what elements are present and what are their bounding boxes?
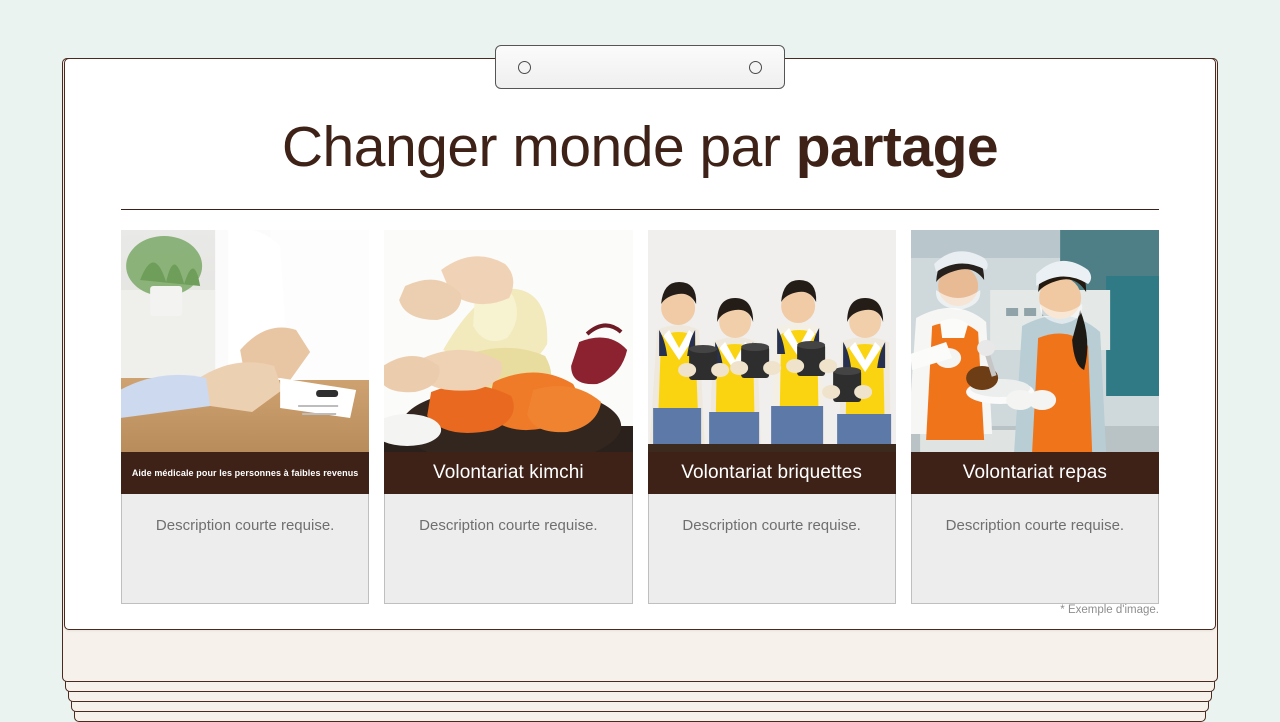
card-title: Volontariat kimchi: [433, 462, 584, 484]
card-item[interactable]: Volontariat repas Description courte req…: [911, 230, 1159, 604]
image-example-note: * Exemple d'image.: [1060, 604, 1159, 616]
card-body: Description courte requise.: [648, 494, 896, 604]
card-title: Volontariat briquettes: [681, 462, 862, 484]
card-item[interactable]: Volontariat briquettes Description court…: [648, 230, 896, 604]
card-description: Description courte requise.: [419, 517, 597, 534]
volunteers-orange-aprons-serving-meal-photo: [911, 230, 1159, 452]
binder-hole-left-icon: [518, 61, 531, 74]
card-title-band: Volontariat repas: [911, 452, 1159, 494]
card-description: Description courte requise.: [156, 517, 334, 534]
page-title: Changer monde par partage: [65, 115, 1215, 179]
card-title-band: Volontariat briquettes: [648, 452, 896, 494]
card-body: Description courte requise.: [121, 494, 369, 604]
binder-tab[interactable]: [495, 45, 785, 89]
page-title-bold: partage: [796, 115, 998, 179]
card-body: Description courte requise.: [384, 494, 632, 604]
card-item[interactable]: Volontariat kimchi Description courte re…: [384, 230, 632, 604]
card-title: Aide médicale pour les personnes à faibl…: [132, 467, 359, 479]
handshake-over-desk-photo: [121, 230, 369, 452]
card-grid: Aide médicale pour les personnes à faibl…: [121, 230, 1159, 604]
card-body: Description courte requise.: [911, 494, 1159, 604]
volunteers-yellow-vests-briquettes-photo: [648, 230, 896, 452]
card-title: Volontariat repas: [963, 462, 1107, 484]
title-divider: [121, 209, 1159, 210]
page-title-regular: Changer monde par: [282, 115, 796, 179]
card-description: Description courte requise.: [682, 517, 860, 534]
slide-canvas: Changer monde par partage: [64, 58, 1216, 630]
card-item[interactable]: Aide médicale pour les personnes à faibl…: [121, 230, 369, 604]
card-description: Description courte requise.: [946, 517, 1124, 534]
kimchi-making-hands-photo: [384, 230, 632, 452]
card-title-band: Aide médicale pour les personnes à faibl…: [121, 452, 369, 494]
binder-hole-right-icon: [749, 61, 762, 74]
card-title-band: Volontariat kimchi: [384, 452, 632, 494]
